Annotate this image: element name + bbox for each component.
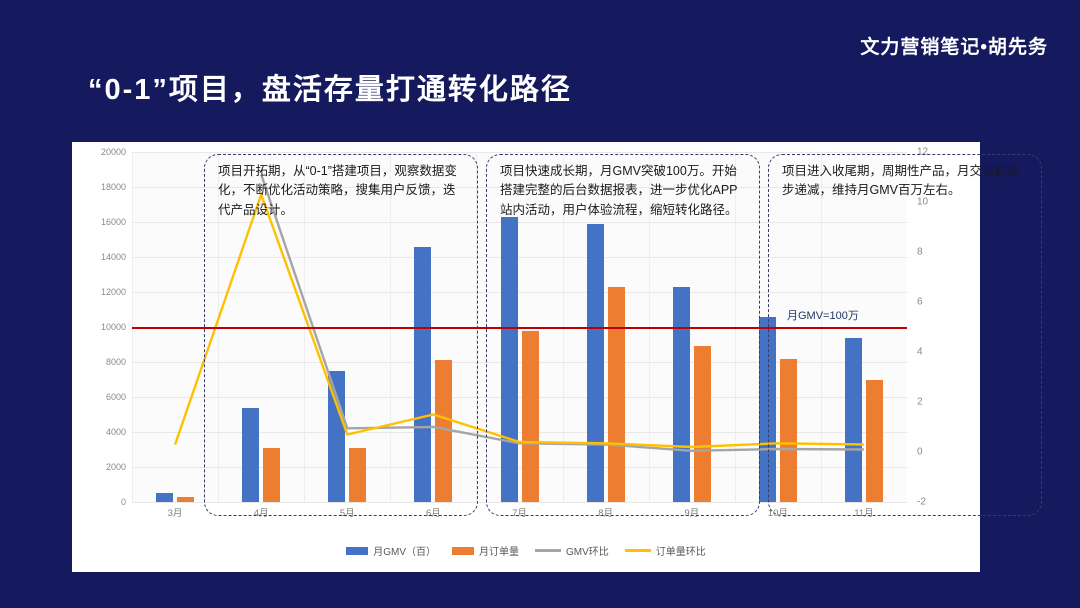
legend-item[interactable]: 订单量环比 [625,543,706,558]
y-axis-tick: 14000 [74,252,126,262]
brand-label: 文力营销笔记•胡先务 [860,32,1048,59]
x-axis-tick: 11月 [854,505,873,519]
y-axis-tick: 4000 [74,427,126,437]
x-axis-tick: 5月 [340,505,355,519]
y-axis-tick: 10000 [74,322,126,332]
y-axis-tick: 2000 [74,462,126,472]
legend-label: 月GMV（百） [373,543,436,558]
target-line-label: 月GMV=100万 [787,307,859,323]
x-axis-tick: 6月 [426,505,441,519]
x-axis-tick: 4月 [254,505,269,519]
legend-swatch-line [625,549,651,552]
y2-axis-tick: 4 [917,347,947,358]
target-line [132,327,907,329]
chart-legend: 月GMV（百）月订单量GMV环比订单量环比 [72,543,980,558]
phase-label-3: 项目进入收尾期，周期性产品，月交易额逐步递减，维持月GMV百万左右。 [782,162,1030,201]
legend-label: GMV环比 [566,543,609,558]
legend-item[interactable]: 月订单量 [452,543,519,558]
legend-swatch-bar [452,547,474,555]
legend-item[interactable]: 月GMV（百） [346,543,436,558]
x-axis-tick: 7月 [512,505,527,519]
legend-swatch-line [535,549,561,552]
y-axis-tick: 6000 [74,392,126,402]
phase-label-2: 项目快速成长期，月GMV突破100万。开始搭建完整的后台数据报表，进一步优化AP… [500,162,748,220]
y2-axis-tick: 6 [917,297,947,308]
legend-label: 月订单量 [479,543,519,558]
legend-label: 订单量环比 [656,543,706,558]
phase-label-1: 项目开拓期，从“0-1”搭建项目，观察数据变化，不断优化活动策略，搜集用户反馈，… [218,162,466,220]
y-axis-tick: 12000 [74,287,126,297]
gridline [132,502,907,503]
x-axis-tick: 8月 [598,505,613,519]
chart-card: 月GMV=100万 020004000600080001000012000140… [72,142,980,572]
y2-axis-tick: -2 [917,497,947,508]
y2-axis-tick: 8 [917,247,947,258]
y2-axis-tick: 2 [917,397,947,408]
page-title: “0-1”项目，盘活存量打通转化路径 [88,66,572,108]
y-axis-tick: 16000 [74,217,126,227]
y-axis-tick: 8000 [74,357,126,367]
y-axis-tick: 20000 [74,147,126,157]
y2-axis-tick: 12 [917,147,947,158]
y-axis-tick: 0 [74,497,126,507]
order-growth-line [175,195,864,448]
x-axis-tick: 3月 [168,505,183,519]
y-axis-tick: 18000 [74,182,126,192]
y2-axis-tick: 0 [917,447,947,458]
x-axis-tick: 9月 [684,505,699,519]
legend-item[interactable]: GMV环比 [535,543,609,558]
x-axis-tick: 10月 [768,505,788,519]
legend-swatch-bar [346,547,368,555]
